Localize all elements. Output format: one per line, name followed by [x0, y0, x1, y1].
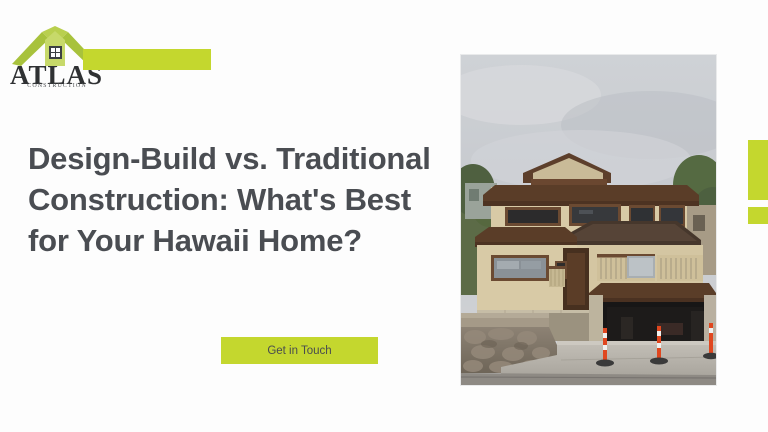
window-grid-icon — [49, 46, 62, 59]
edge-accent-bar-top — [748, 140, 768, 200]
logo-tagline: CONSTRUCTION — [22, 83, 92, 89]
blog-hero-banner: ATLAS CONSTRUCTION Design-Build vs. Trad… — [0, 0, 768, 432]
edge-accent-bar-bottom — [748, 207, 768, 224]
header-accent-bar — [83, 49, 211, 70]
page-title: Design-Build vs. Traditional Constructio… — [28, 139, 448, 262]
hero-photo — [461, 55, 716, 385]
get-in-touch-button[interactable]: Get in Touch — [221, 337, 378, 364]
